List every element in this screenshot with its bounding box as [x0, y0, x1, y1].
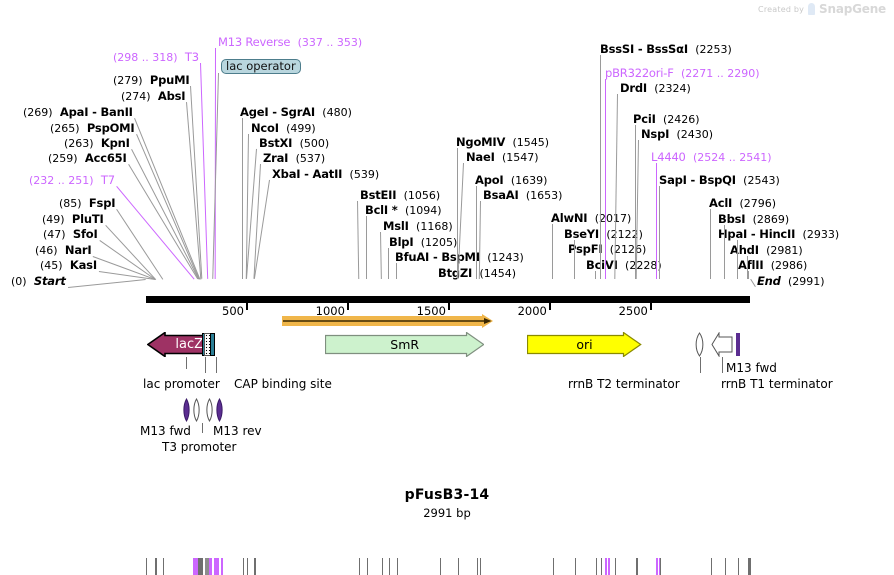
label-position-naei: (1547)	[502, 151, 539, 164]
ruler-tick-1500	[448, 303, 450, 310]
label-position-t7: (232 .. 251)	[29, 174, 94, 187]
label-position-ppumi: (279)	[113, 74, 143, 87]
label-name-bstei: BstEII	[360, 188, 396, 202]
label-name-bsssi: BssSI - BssSαI	[600, 42, 688, 56]
label-position-bcli: (1094)	[405, 204, 442, 217]
leader-line-apai-banii	[134, 118, 200, 279]
label-name-bbsi: BbsI	[718, 212, 745, 226]
leader-line-sfoi	[99, 240, 155, 280]
label-name-pcii: PciI	[633, 112, 656, 126]
cut-site-tick-2271	[605, 558, 607, 575]
primer-connector-tick-1	[186, 357, 187, 369]
cut-site-tick-1454	[440, 558, 441, 575]
label-msli[interactable]: MslI (1168)	[383, 220, 453, 233]
label-position-t3: (298 .. 318)	[113, 51, 178, 64]
m13-fwd-primer-glyph-right[interactable]	[736, 333, 740, 356]
label-absi[interactable]: (274) AbsI	[121, 90, 185, 103]
label-position-nari: (46)	[35, 244, 58, 257]
label-name-alwni: AlwNI	[551, 211, 587, 225]
cut-site-tick-1094	[367, 558, 368, 575]
ruler-tick-2500	[650, 303, 652, 310]
cut-site-tick-353	[217, 558, 219, 575]
label-position-fspi: (85)	[59, 197, 82, 210]
label-name-kpni: KpnI	[101, 136, 130, 150]
label-nari[interactable]: (46) NarI	[35, 244, 91, 257]
label-name-apoi: ApoI	[475, 173, 504, 187]
plasmid-length: 2991 bp	[0, 506, 894, 520]
label-position-plutl: (49)	[42, 213, 65, 226]
cut-site-tick-2933	[738, 558, 739, 575]
leader-line-bfuai-bspmi	[396, 263, 397, 279]
label-position-xbai-aatii: (539)	[350, 168, 380, 181]
cut-site-tick-2126	[575, 558, 576, 575]
label-sapi-bspqi[interactable]: SapI - BspQI (2543)	[659, 174, 780, 187]
cut-site-tick-2796	[711, 558, 712, 575]
label-name-acli: AclI	[709, 196, 732, 210]
label-bcivi[interactable]: BciVI (2228)	[586, 259, 662, 272]
label-bbsi[interactable]: BbsI (2869)	[718, 213, 789, 226]
plasmid-map-canvas: Created by SnapGene M13 Reverse (337 .. …	[0, 0, 894, 528]
label-position-ahdi: (2981)	[766, 244, 803, 257]
snapgene-brand-text: SnapGene	[819, 2, 886, 16]
label-position-apai-banii: (269)	[23, 106, 53, 119]
label-position-bsaai: (1653)	[526, 189, 563, 202]
cut-site-tick-85	[163, 558, 164, 575]
ruler-tick-2000	[549, 303, 551, 310]
caption-tick-cap-binding-site	[216, 357, 217, 373]
label-apai-banii[interactable]: (269) ApaI - BanII	[23, 106, 133, 119]
leader-line-blpi	[388, 248, 389, 279]
label-name-bsaai: BsaAI	[483, 188, 519, 202]
label-bsssi[interactable]: BssSI - BssSαI (2253)	[600, 43, 732, 56]
label-pbr322ori-f[interactable]: pBR322ori-F (2271 .. 2290)	[605, 67, 760, 80]
label-name-nari: NarI	[65, 243, 92, 257]
label-bstxi[interactable]: BstXI (500)	[259, 137, 329, 150]
label-position-bsssi: (2253)	[695, 43, 732, 56]
plasmid-backbone	[146, 296, 750, 303]
label-name-bcli: BclI *	[365, 203, 398, 217]
label-sfoi[interactable]: (47) SfoI	[43, 228, 98, 241]
label-position-pcii: (2426)	[663, 113, 700, 126]
leader-line-bcivi	[595, 271, 596, 279]
label-name-fspi: FspI	[89, 196, 115, 210]
m13-rev-primer-glyph[interactable]	[215, 398, 224, 422]
cut-site-tick-372	[221, 558, 223, 575]
label-name-msli: MslI	[383, 219, 409, 233]
cut-site-tick-1056	[359, 558, 360, 575]
label-t3[interactable]: (298 .. 318) T3	[113, 51, 199, 64]
cut-site-tick-539	[255, 558, 256, 575]
label-position-end: (2991)	[788, 275, 825, 288]
label-name-sapi-bspqi: SapI - BspQI	[659, 173, 736, 187]
label-alwni[interactable]: AlwNI (2017)	[551, 212, 631, 225]
label-name-agei-sgrai: AgeI - SgrAI	[240, 105, 315, 119]
created-by-text: Created by	[758, 5, 804, 14]
label-position-apoi: (1639)	[511, 174, 548, 187]
leader-line-bstei	[357, 201, 359, 279]
label-position-nspi: (2430)	[677, 128, 714, 141]
label-position-bstxi: (500)	[300, 137, 330, 150]
leader-line-start	[68, 279, 146, 288]
leader-line-aflii	[748, 271, 749, 279]
label-agei-sgrai[interactable]: AgeI - SgrAI (480)	[240, 106, 352, 119]
label-drdi[interactable]: DrdI (2324)	[620, 82, 691, 95]
caption-rrnb-t2-terminator: rrnB T2 terminator	[568, 377, 680, 391]
snapgene-watermark: Created by SnapGene	[758, 2, 886, 16]
cut-site-tick-1639	[477, 558, 478, 575]
label-name-t3: T3	[185, 50, 199, 64]
label-position-absi: (274)	[121, 90, 151, 103]
primer-connector-tick-0	[202, 423, 203, 433]
label-start[interactable]: (0) Start	[11, 275, 66, 288]
promoter-arrow-smr-promoter[interactable]	[282, 314, 497, 328]
cut-site-tick-279	[202, 558, 203, 575]
cut-site-tick-1243	[397, 558, 398, 575]
label-position-agei-sgrai: (480)	[322, 106, 352, 119]
m13-fwd-primer-glyph-left[interactable]	[182, 398, 191, 422]
label-name-acc65i: Acc65I	[85, 151, 127, 165]
label-position-ngomiv: (1545)	[513, 136, 550, 149]
ruler-label-2500: 2500	[619, 304, 650, 318]
label-naei[interactable]: NaeI (1547)	[466, 151, 539, 164]
cut-site-tick-2253	[601, 558, 602, 575]
cut-site-tick-318	[210, 558, 212, 575]
label-ppumi[interactable]: (279) PpuMI	[113, 74, 189, 87]
label-position-kpni: (263)	[64, 137, 94, 150]
label-name-apai-banii: ApaI - BanII	[60, 105, 133, 119]
snapgene-logo-icon	[808, 3, 815, 15]
label-name-end: End	[757, 274, 781, 288]
label-name-m13-reverse: M13 Reverse	[218, 35, 290, 49]
label-name-zrai: ZraI	[263, 151, 288, 165]
label-acli[interactable]: AclI (2796)	[709, 197, 776, 210]
label-ahdi[interactable]: AhdI (2981)	[730, 244, 803, 257]
label-m13-reverse[interactable]: M13 Reverse (337 .. 353)	[218, 36, 362, 49]
label-name-btgzi: BtgZI	[438, 266, 472, 280]
label-bseyi[interactable]: BseYI (2122)	[564, 228, 643, 241]
leader-line-agei-sgrai	[242, 118, 243, 279]
cut-site-tick-1205	[389, 558, 390, 575]
leader-line-bsssi	[600, 55, 601, 279]
cut-site-tick-1168	[382, 558, 383, 575]
leader-line-pspfi	[574, 255, 575, 279]
label-t7[interactable]: (232 .. 251) T7	[29, 174, 115, 187]
label-position-pspomi: (265)	[50, 122, 80, 135]
leader-line-msli	[380, 232, 382, 279]
label-zrai[interactable]: ZraI (537)	[263, 152, 325, 165]
m13-fwd-primer-outline[interactable]	[192, 398, 201, 422]
feature-arrow-SmR[interactable]: SmR	[325, 332, 485, 357]
label-ngomiv[interactable]: NgoMIV (1545)	[456, 136, 549, 149]
label-bsaai[interactable]: BsaAI (1653)	[483, 189, 562, 202]
label-name-hpai-hincii: HpaI - HincII	[718, 227, 795, 241]
label-position-ncoi: (499)	[286, 122, 316, 135]
ruler-label-2000: 2000	[518, 304, 549, 318]
label-xbai-aatii[interactable]: XbaI - AatII (539)	[272, 168, 379, 181]
label-fspi[interactable]: (85) FspI	[59, 197, 115, 210]
label-position-aflii: (2986)	[771, 259, 808, 272]
cut-site-tick-2991	[750, 558, 751, 575]
cut-site-tick-2324	[615, 558, 616, 575]
leader-line-bcli	[366, 216, 367, 279]
cut-site-tick-2543	[660, 558, 661, 575]
caption-lac-promoter: lac promoter	[143, 377, 220, 391]
label-name-aflii: AflII	[738, 258, 763, 272]
caption-m13-fwd-left: M13 fwd	[140, 424, 191, 438]
label-kpni[interactable]: (263) KpnI	[64, 137, 130, 150]
label-name-kasi: KasI	[70, 258, 97, 272]
label-position-acc65i: (259)	[48, 152, 78, 165]
cut-site-tick-1547	[458, 558, 459, 575]
label-position-sfoi: (47)	[43, 228, 66, 241]
label-position-kasi: (45)	[40, 259, 63, 272]
cut-site-tick-49	[156, 558, 157, 575]
leader-line-sapi-bspqi	[659, 186, 660, 279]
feature-arrow-ori[interactable]: ori	[527, 332, 641, 357]
label-position-blpi: (1205)	[421, 236, 458, 249]
cut-site-tick-1653	[480, 558, 481, 575]
label-name-ncoi: NcoI	[251, 121, 279, 135]
label-position-zrai: (537)	[296, 152, 326, 165]
label-bstei[interactable]: BstEII (1056)	[360, 189, 440, 202]
label-name-ppumi: PpuMI	[150, 73, 190, 87]
ruler-label-500: 500	[222, 304, 246, 318]
label-pcii[interactable]: PciI (2426)	[633, 113, 700, 126]
leader-line-alwni	[552, 224, 553, 279]
cut-site-tick-band	[146, 279, 750, 296]
leader-line-t7	[116, 186, 194, 280]
label-bcli[interactable]: BclI * (1094)	[365, 204, 442, 217]
cut-site-tick-2869	[725, 558, 726, 575]
label-position-bbsi: (2869)	[753, 213, 790, 226]
label-name-drdi: DrdI	[620, 81, 647, 95]
label-name-sfoi: SfoI	[73, 227, 98, 241]
rrnb-t2-terminator-glyph[interactable]	[694, 332, 705, 357]
ruler-tick-500	[246, 303, 248, 310]
caption-tick-lac-promoter	[205, 357, 206, 373]
leader-line-apoi	[476, 186, 477, 279]
label-position-sapi-bspqi: (2543)	[743, 174, 780, 187]
label-position-start: (0)	[11, 275, 27, 288]
label-blpi[interactable]: BlpI (1205)	[389, 236, 457, 249]
label-name-t7: T7	[101, 173, 115, 187]
label-name-xbai-aatii: XbaI - AatII	[272, 167, 342, 181]
leader-line-acli	[710, 209, 711, 279]
label-name-bseyi: BseYI	[564, 227, 599, 241]
feature-label-ori: ori	[527, 332, 654, 357]
cut-site-tick-0	[146, 558, 147, 575]
label-name-pspomi: PspOMI	[87, 121, 135, 135]
label-name-bstxi: BstXI	[259, 136, 292, 150]
caption-rrnb-t1-terminator: rrnB T1 terminator	[721, 377, 833, 391]
cut-site-tick-cluster	[205, 558, 209, 575]
label-position-bstei: (1056)	[404, 189, 441, 202]
label-position-m13-reverse: (337 .. 353)	[298, 36, 363, 49]
label-nspi[interactable]: NspI (2430)	[641, 128, 713, 141]
label-name-start: Start	[34, 274, 66, 288]
cut-site-tick-500	[247, 558, 248, 575]
label-name-pbr322ori-f: pBR322ori-F	[605, 66, 674, 80]
label-name-bfuai-bspmi: BfuAI - BspMI	[395, 250, 480, 264]
label-name-absi: AbsI	[158, 89, 185, 103]
cut-site-tick-2017	[553, 558, 554, 575]
leader-line-t3	[200, 63, 208, 279]
label-name-blpi: BlpI	[389, 235, 413, 249]
cap-binding-site-bar[interactable]	[210, 333, 215, 356]
cut-site-tick-2524	[656, 558, 658, 575]
label-position-acli: (2796)	[739, 197, 776, 210]
label-name-nspi: NspI	[641, 127, 669, 141]
page-title: pFusB3-14	[0, 487, 894, 503]
label-kasi[interactable]: (45) KasI	[40, 259, 97, 272]
label-name-ngomiv: NgoMIV	[456, 135, 505, 149]
label-l4440[interactable]: L4440 (2524 .. 2541)	[651, 151, 772, 164]
rrnb-t1-terminator-glyph[interactable]	[711, 332, 733, 357]
caption-m13-fwd-right: M13 fwd	[726, 361, 777, 375]
caption-m13-rev-left: M13 rev	[213, 424, 262, 438]
label-name-naei: NaeI	[466, 150, 495, 164]
label-position-msli: (1168)	[416, 220, 453, 233]
label-ncoi[interactable]: NcoI (499)	[251, 122, 316, 135]
caption-t3-promoter: T3 promoter	[162, 440, 236, 454]
label-apoi[interactable]: ApoI (1639)	[475, 174, 547, 187]
label-name-l4440: L4440	[651, 150, 686, 164]
label-plutl[interactable]: (49) PluTI	[42, 213, 104, 226]
ruler-tick-1000	[347, 303, 349, 310]
label-name-bcivi: BciVI	[586, 258, 618, 272]
feature-label-lacZa: lacZα	[147, 332, 227, 357]
caption-cap-binding-site: CAP binding site	[234, 377, 332, 391]
label-position-hpai-hincii: (2933)	[803, 228, 840, 241]
label-lac-operator[interactable]: lac operator	[221, 59, 301, 74]
m13-rev-primer-outline[interactable]	[205, 398, 214, 422]
leader-line-end	[750, 278, 756, 287]
label-acc65i[interactable]: (259) Acc65I	[48, 152, 127, 165]
label-end[interactable]: End (2991)	[757, 275, 825, 288]
cut-site-tick-480	[243, 558, 244, 575]
label-name-plutl: PluTI	[72, 212, 104, 226]
cut-site-tick-2430	[637, 558, 638, 575]
caption-tick-rrnb-t1-terminator	[722, 357, 723, 373]
label-position-bfuai-bspmi: (1243)	[487, 251, 524, 264]
cut-site-tick-2290	[608, 558, 610, 575]
label-pspomi[interactable]: (265) PspOMI	[50, 122, 135, 135]
feature-label-SmR: SmR	[325, 332, 497, 357]
label-name-ahdi: AhdI	[730, 243, 759, 257]
cut-site-tick-2228	[596, 558, 597, 575]
caption-tick-rrnb-t2-terminator	[700, 357, 701, 373]
leader-line-plutl	[105, 225, 156, 280]
label-position-pbr322ori-f: (2271 .. 2290)	[681, 67, 760, 80]
label-position-l4440: (2524 .. 2541)	[693, 151, 772, 164]
label-position-drdi: (2324)	[654, 82, 691, 95]
